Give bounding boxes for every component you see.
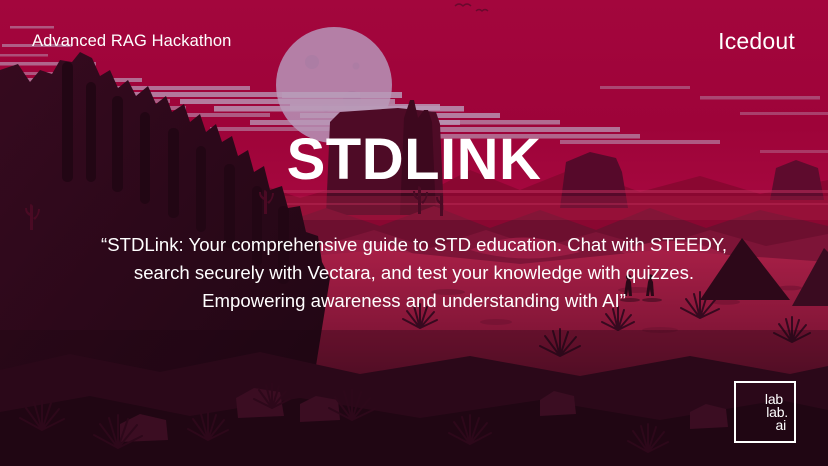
logo-line-3: ai <box>776 419 787 432</box>
hackathon-label: Advanced RAG Hackathon <box>32 32 231 51</box>
presentation-slide: Advanced RAG Hackathon Icedout STDLINK “… <box>0 0 828 466</box>
lablab-ai-logo: lab lab. ai <box>734 381 796 443</box>
lablab-logo-text-stack: lab lab. ai <box>736 383 794 441</box>
team-name-label: Icedout <box>718 28 795 55</box>
project-description: “STDLink: Your comprehensive guide to ST… <box>92 231 737 315</box>
page-title: STDLINK <box>0 131 828 189</box>
slide-text-overlay: Advanced RAG Hackathon Icedout STDLINK “… <box>0 0 828 466</box>
